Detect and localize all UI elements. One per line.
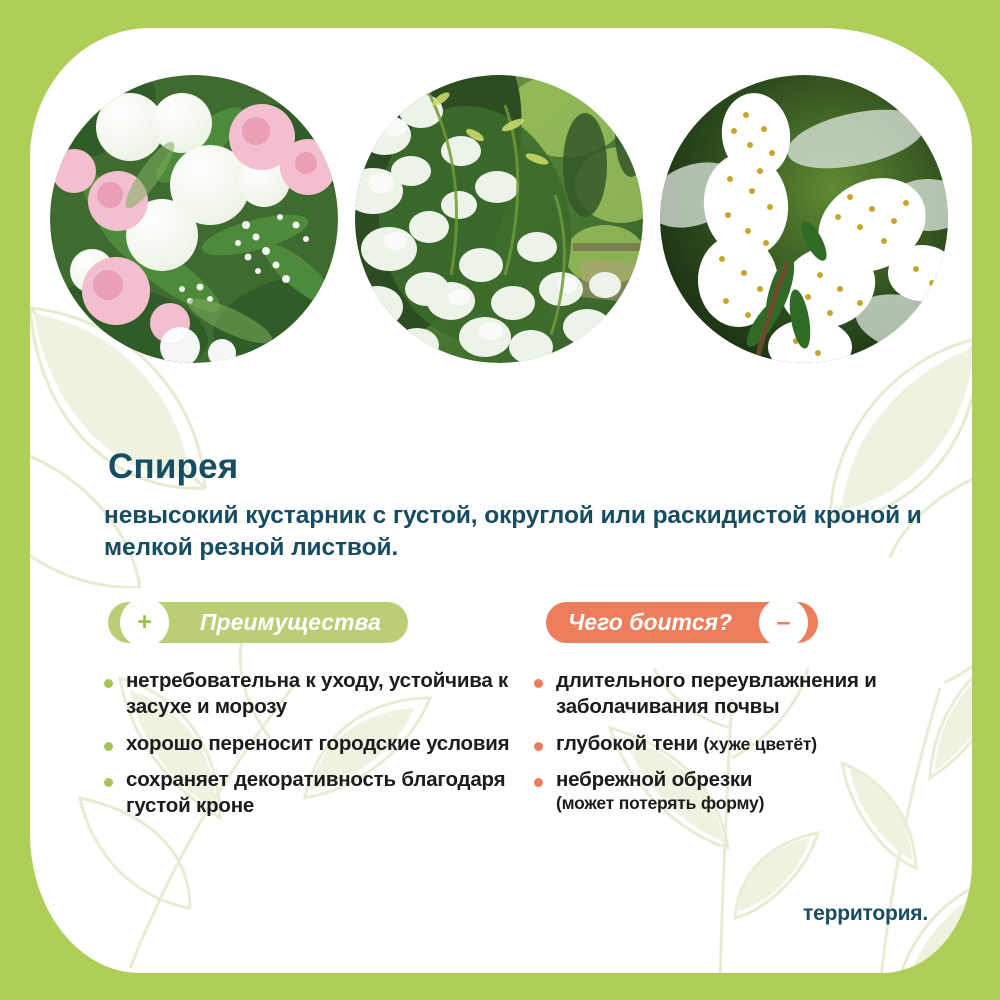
cons-list: длительного переувлажнения и заболачиван…: [530, 668, 972, 825]
list-item-text: длительного переувлажнения и заболачиван…: [556, 668, 972, 720]
bullet-dot-icon: [104, 679, 113, 688]
list-item: сохраняет декоративность благодаря густо…: [100, 767, 515, 819]
list-item: нетребовательна к уходу, устойчива к зас…: [100, 668, 515, 720]
list-item: хорошо переносит городские условия: [100, 731, 515, 757]
list-item-text: сохраняет декоративность благодаря густо…: [126, 767, 515, 819]
poster-root: Спирея невысокий кустарник с густой, окр…: [0, 0, 1000, 1000]
list-item-text: хорошо переносит городские условия: [126, 731, 515, 757]
list-item: небрежной обрезки (может потерять форму): [530, 767, 972, 814]
bullet-dot-icon: [534, 679, 543, 688]
page-subtitle: невысокий кустарник с густой, округлой и…: [104, 500, 934, 564]
list-item-note: (хуже цветёт): [704, 734, 817, 754]
list-item-note: (может потерять форму): [556, 793, 764, 813]
brand-logo: территория.: [803, 902, 928, 926]
plus-sign-icon: +: [120, 598, 169, 647]
list-item-text: небрежной обрезки: [556, 767, 972, 793]
bullet-dot-icon: [534, 742, 543, 751]
content-card: Спирея невысокий кустарник с густой, окр…: [30, 28, 972, 973]
list-item: длительного переувлажнения и заболачиван…: [530, 668, 972, 720]
plus-sign-glyph: +: [137, 610, 152, 635]
list-item: глубокой тени (хуже цветёт): [530, 731, 972, 757]
pros-list: нетребовательна к уходу, устойчива к зас…: [100, 668, 515, 830]
gallery-image-spiraea-pink-white-clusters: [50, 75, 338, 363]
photo-gallery: [50, 75, 955, 370]
cons-badge-label: Чего боится?: [568, 609, 732, 636]
list-item-text: глубокой тени (хуже цветёт): [556, 731, 972, 757]
gallery-image-spiraea-white-flowering-shrub: [355, 75, 643, 363]
list-item-main: глубокой тени: [556, 732, 704, 755]
list-item-text: нетребовательна к уходу, устойчива к зас…: [126, 668, 515, 720]
bullet-dot-icon: [104, 778, 113, 787]
gallery-image-spiraea-white-flowers-closeup: [660, 75, 948, 363]
bullet-dot-icon: [104, 742, 113, 751]
minus-sign-icon: –: [759, 598, 808, 647]
pros-badge-label: Преимущества: [200, 609, 381, 636]
page-title: Спирея: [108, 447, 238, 487]
minus-sign-glyph: –: [777, 610, 791, 635]
bullet-dot-icon: [534, 778, 543, 787]
